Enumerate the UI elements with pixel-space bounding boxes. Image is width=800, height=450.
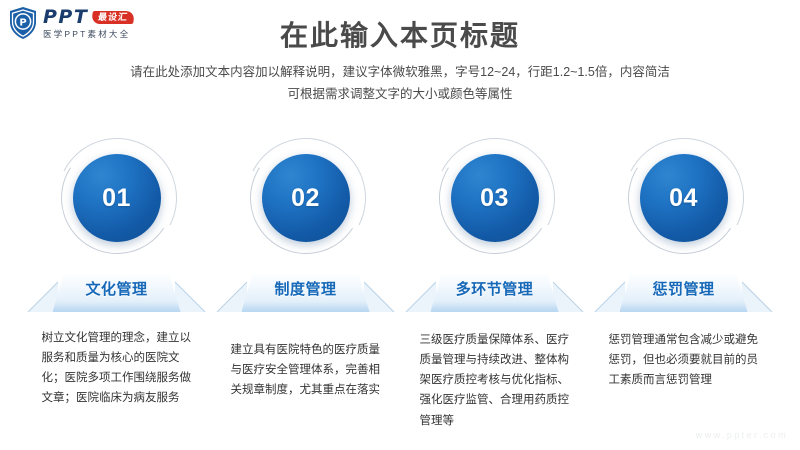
banner-4: 惩罚管理 [591, 272, 776, 318]
page-subtitle: 请在此处添加文本内容加以解释说明，建议字体微软雅黑，字号12~24，行距1.2~… [100, 62, 700, 106]
subtitle-line-1: 请在此处添加文本内容加以解释说明，建议字体微软雅黑，字号12~24，行距1.2~… [100, 62, 700, 84]
item-body-text: 三级医疗质量保障体系、医疗质量管理与持续改进、整体构架医疗质控考核与优化指标、强… [420, 330, 570, 431]
banner-label: 多环节管理 [402, 278, 587, 299]
subtitle-line-2: 可根据需求调整文字的大小或颜色等属性 [100, 84, 700, 106]
item-column-3[interactable]: 03 多环节管理 三级医疗质量保障体系、医疗质量管理与持续改进、整体构架医疗质控… [400, 138, 589, 431]
step-number: 03 [480, 184, 509, 213]
step-number: 04 [669, 184, 698, 213]
page-title: 在此输入本页标题 [0, 14, 800, 54]
item-column-1[interactable]: 01 文化管理 树立文化管理的理念，建立以服务和质量为核心的医院文化；医院多项工… [22, 138, 211, 431]
footer-watermark: www.ppter.com [696, 430, 788, 440]
step-circle-1[interactable]: 01 [57, 138, 177, 258]
step-number: 02 [291, 184, 320, 213]
banner-label: 制度管理 [213, 278, 398, 299]
item-body-text: 树立文化管理的理念，建立以服务和质量为核心的医院文化；医院多项工作围绕服务做文章… [42, 328, 192, 409]
step-circle-2[interactable]: 02 [246, 138, 366, 258]
step-number: 01 [102, 184, 131, 213]
banner-label: 惩罚管理 [591, 278, 776, 299]
item-column-2[interactable]: 02 制度管理 建立具有医院特色的医疗质量与医疗安全管理体系，完善相关规章制度，… [211, 138, 400, 431]
items-row: 01 文化管理 树立文化管理的理念，建立以服务和质量为核心的医院文化；医院多项工… [22, 138, 778, 431]
item-body-text: 惩罚管理通常包含减少或避免惩罚，但也必须要就目前的员工素质而言惩罚管理 [609, 330, 759, 390]
banner-2: 制度管理 [213, 272, 398, 318]
step-circle-4[interactable]: 04 [624, 138, 744, 258]
banner-1: 文化管理 [24, 272, 209, 318]
item-column-4[interactable]: 04 惩罚管理 惩罚管理通常包含减少或避免惩罚，但也必须要就目前的员工素质而言惩… [589, 138, 778, 431]
step-circle-3[interactable]: 03 [435, 138, 555, 258]
banner-label: 文化管理 [24, 278, 209, 299]
item-body-text: 建立具有医院特色的医疗质量与医疗安全管理体系，完善相关规章制度，尤其重点在落实 [231, 340, 381, 400]
banner-3: 多环节管理 [402, 272, 587, 318]
